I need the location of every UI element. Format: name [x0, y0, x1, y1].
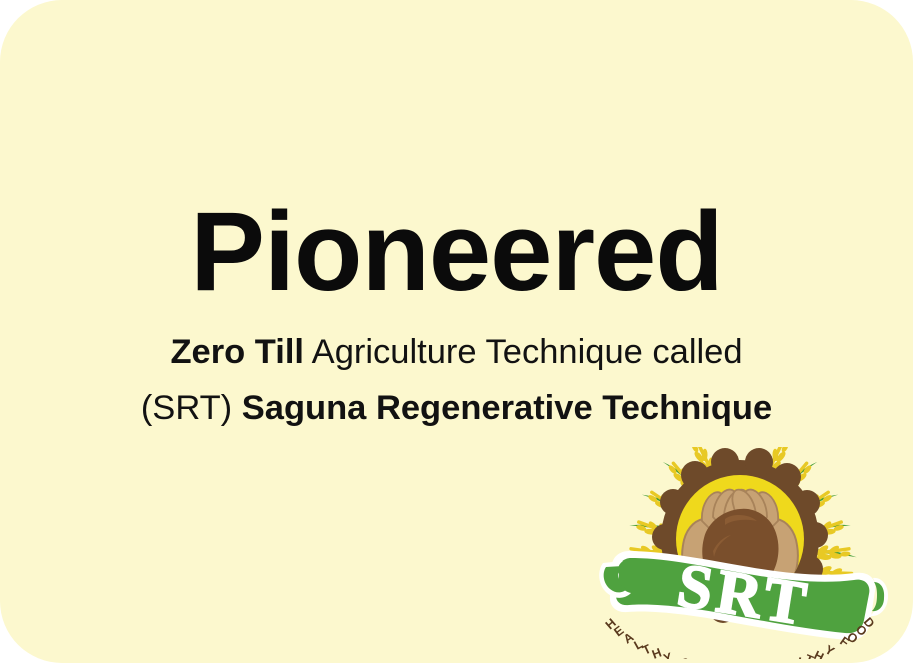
subtitle-line-2-bold: Saguna Regenerative Technique — [242, 389, 772, 427]
tagline-letter: Y — [823, 642, 838, 659]
page-title: Pioneered — [0, 196, 913, 308]
subtitle-line-2-normal: (SRT) — [141, 389, 242, 427]
subtitle-line-1-bold: Zero Till — [170, 333, 304, 371]
tagline-letter: Y — [662, 650, 675, 659]
slide-card: Pioneered Zero Till Agriculture Techniqu… — [0, 0, 913, 663]
subtitle-line-2: (SRT) Saguna Regenerative Technique — [0, 391, 913, 426]
srt-logo: SRT H E A L T H Y S O I L F O R H E A — [573, 447, 908, 659]
tagline-letter: S — [680, 656, 691, 659]
text-block: Pioneered Zero Till Agriculture Techniqu… — [0, 196, 913, 425]
subtitle-line-1: Zero Till Agriculture Technique called — [0, 335, 913, 370]
tagline-letter: A — [784, 657, 796, 659]
srt-ribbon-banner: SRT — [599, 551, 888, 640]
subtitle-line-1-normal: Agriculture Technique called — [304, 333, 743, 371]
tagline-letter: O — [690, 658, 702, 659]
